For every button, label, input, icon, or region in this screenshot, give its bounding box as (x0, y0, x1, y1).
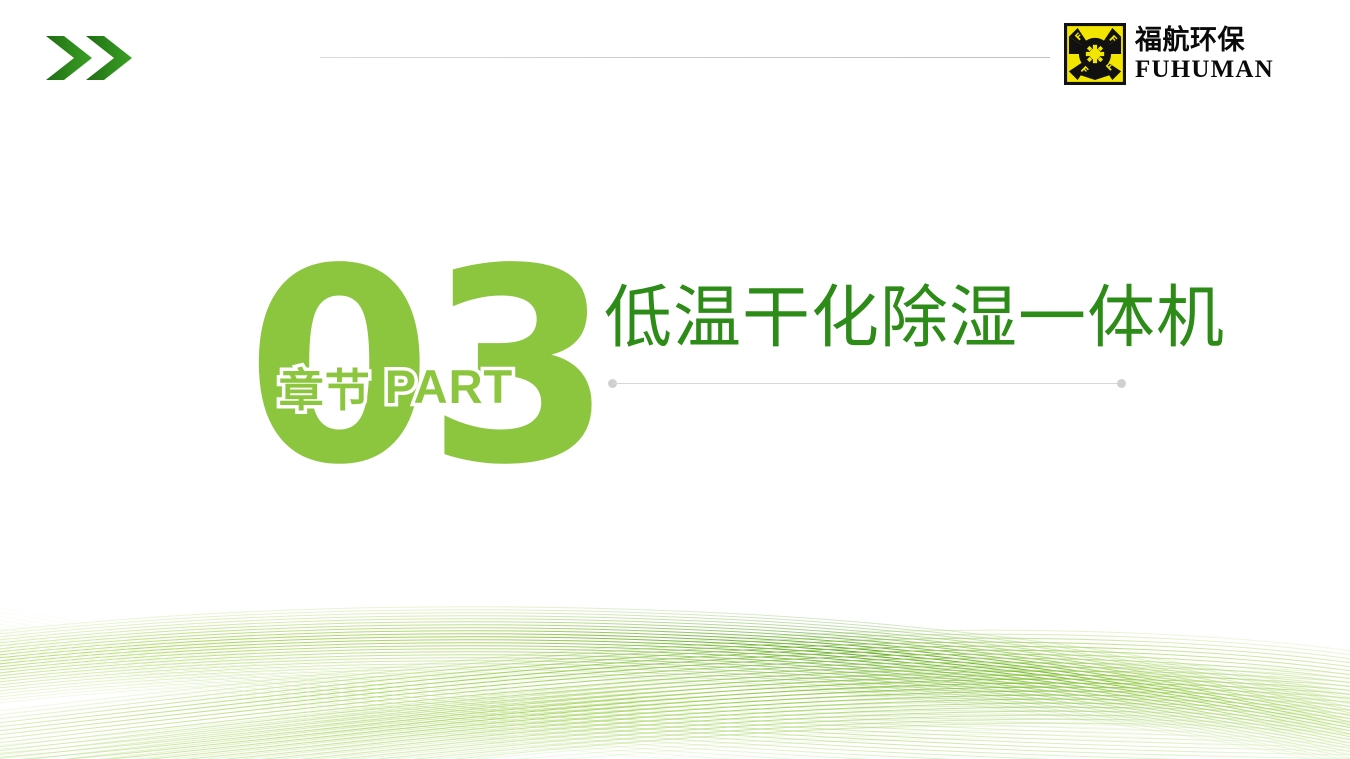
fuhuman-logo-mark: F F F F (1064, 23, 1126, 85)
section-label-overlay: 章节 PART (246, 356, 546, 416)
company-logo: F F F F 福航环保 FUHUMAN (1064, 23, 1274, 85)
logo-company-en: FUHUMAN (1135, 57, 1274, 82)
logo-wordmark: 福航环保 FUHUMAN (1135, 27, 1274, 82)
section-label-cn: 章节 (279, 354, 371, 419)
title-divider (608, 379, 1126, 388)
double-chevron-right-icon (44, 30, 140, 86)
header-divider-line (320, 57, 1050, 58)
divider-line (613, 383, 1121, 384)
presentation-slide: F F F F 福航环保 FUHUMAN 03 章节 PART 低温干化除湿一体… (0, 0, 1350, 759)
page-title: 低温干化除湿一体机 (604, 283, 1174, 354)
section-title-block: 低温干化除湿一体机 (604, 283, 1174, 354)
green-ribbon-waves (0, 569, 1350, 759)
logo-company-cn: 福航环保 (1135, 27, 1274, 54)
section-label-en: PART (385, 359, 513, 414)
section-number-block: 03 章节 PART (246, 252, 546, 484)
divider-dot-right (1117, 379, 1126, 388)
